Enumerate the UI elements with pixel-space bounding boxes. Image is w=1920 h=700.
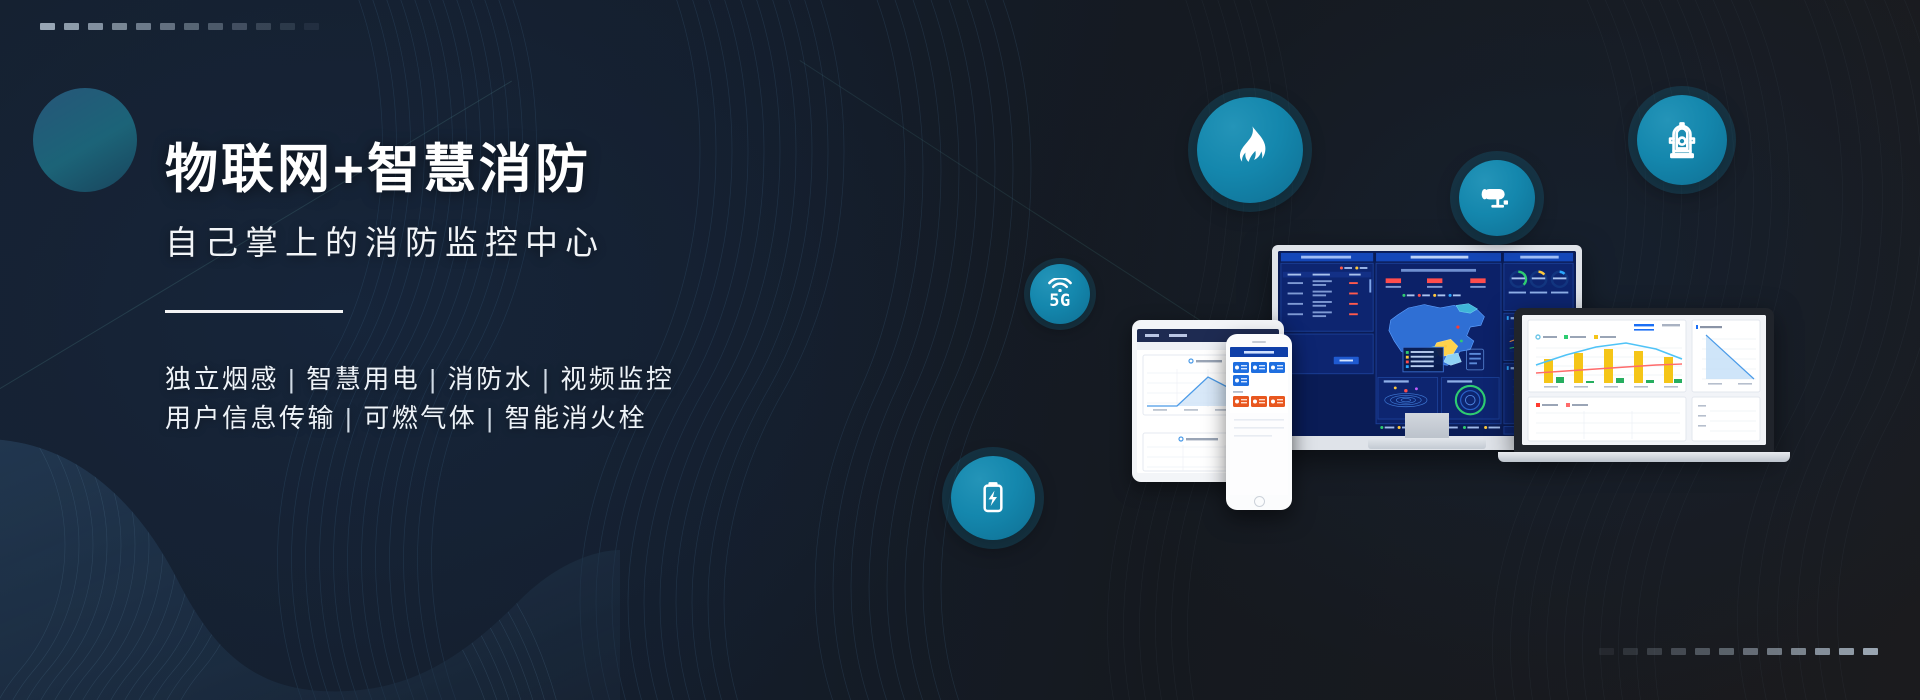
feature-separator: | [533, 364, 560, 394]
feature-line: 用户信息传输|可燃气体|智能消火栓 [165, 399, 925, 437]
laptop-base [1498, 452, 1790, 462]
device-phone [1226, 334, 1292, 510]
dash-mark [256, 23, 271, 30]
hydrant-icon-badge[interactable] [1637, 95, 1727, 185]
decorative-dash-row-topleft [40, 23, 319, 30]
dash-mark [1695, 648, 1710, 655]
feature-separator: | [420, 364, 447, 394]
dash-mark [1671, 648, 1686, 655]
feature-separator: | [279, 364, 306, 394]
phone-home-button[interactable] [1254, 496, 1265, 507]
dash-mark [304, 23, 319, 30]
decorative-wave-shape [0, 400, 620, 700]
monitor-stand-base [1368, 438, 1486, 449]
fire-icon [1223, 123, 1277, 177]
hydrant-icon [1660, 118, 1704, 162]
feature-line: 独立烟感|智慧用电|消防水|视频监控 [165, 360, 925, 398]
feature-item: 智能消火栓 [505, 403, 648, 433]
phone-speaker [1252, 341, 1266, 343]
battery-icon [973, 478, 1013, 518]
5g-icon-badge[interactable]: 5G [1030, 264, 1090, 324]
laptop-dashboard [1522, 315, 1766, 445]
hero-banner: 物联网+智慧消防 自己掌上的消防监控中心 独立烟感|智慧用电|消防水|视频监控用… [0, 0, 1920, 700]
hero-text-block: 物联网+智慧消防 自己掌上的消防监控中心 独立烟感|智慧用电|消防水|视频监控用… [165, 140, 925, 437]
dash-mark [88, 23, 103, 30]
feature-item: 视频监控 [560, 364, 674, 394]
dash-mark [280, 23, 295, 30]
laptop-screen [1522, 315, 1766, 445]
dash-mark [1863, 648, 1878, 655]
dash-mark [1647, 648, 1662, 655]
feature-item: 用户信息传输 [165, 403, 336, 433]
hero-feature-list: 独立烟感|智慧用电|消防水|视频监控用户信息传输|可燃气体|智能消火栓 [165, 360, 925, 437]
feature-separator: | [336, 403, 363, 433]
device-mockup-cluster [1120, 280, 1800, 590]
dash-mark [1815, 648, 1830, 655]
feature-item: 独立烟感 [165, 364, 279, 394]
camera-icon [1477, 178, 1517, 218]
dash-mark [1599, 648, 1614, 655]
dash-mark [40, 23, 55, 30]
hero-subheadline: 自己掌上的消防监控中心 [165, 216, 925, 264]
hero-divider [165, 310, 343, 313]
feature-item: 消防水 [448, 364, 534, 394]
dash-mark [1719, 648, 1734, 655]
dash-mark [1791, 648, 1806, 655]
battery-icon-badge[interactable] [951, 456, 1035, 540]
decorative-circle-topleft [33, 88, 137, 192]
phone-screen [1230, 347, 1288, 495]
dash-mark [1743, 648, 1758, 655]
dash-mark [1767, 648, 1782, 655]
wifi-icon [1047, 278, 1073, 292]
5g-label: 5G [1049, 293, 1070, 310]
dash-mark [160, 23, 175, 30]
feature-separator: | [477, 403, 504, 433]
dash-mark [208, 23, 223, 30]
feature-item: 可燃气体 [363, 403, 477, 433]
dash-mark [232, 23, 247, 30]
decorative-dash-row-bottomright [1599, 648, 1878, 655]
phone-dashboard [1230, 347, 1288, 495]
dash-mark [112, 23, 127, 30]
fire-icon-badge[interactable] [1197, 97, 1303, 203]
hero-headline: 物联网+智慧消防 [165, 140, 925, 199]
feature-item: 智慧用电 [306, 364, 420, 394]
dash-mark [64, 23, 79, 30]
camera-icon-badge[interactable] [1459, 160, 1535, 236]
device-laptop [1514, 308, 1774, 454]
dash-mark [1623, 648, 1638, 655]
dash-mark [1839, 648, 1854, 655]
monitor-stand-neck [1405, 413, 1449, 441]
dash-mark [184, 23, 199, 30]
dash-mark [136, 23, 151, 30]
